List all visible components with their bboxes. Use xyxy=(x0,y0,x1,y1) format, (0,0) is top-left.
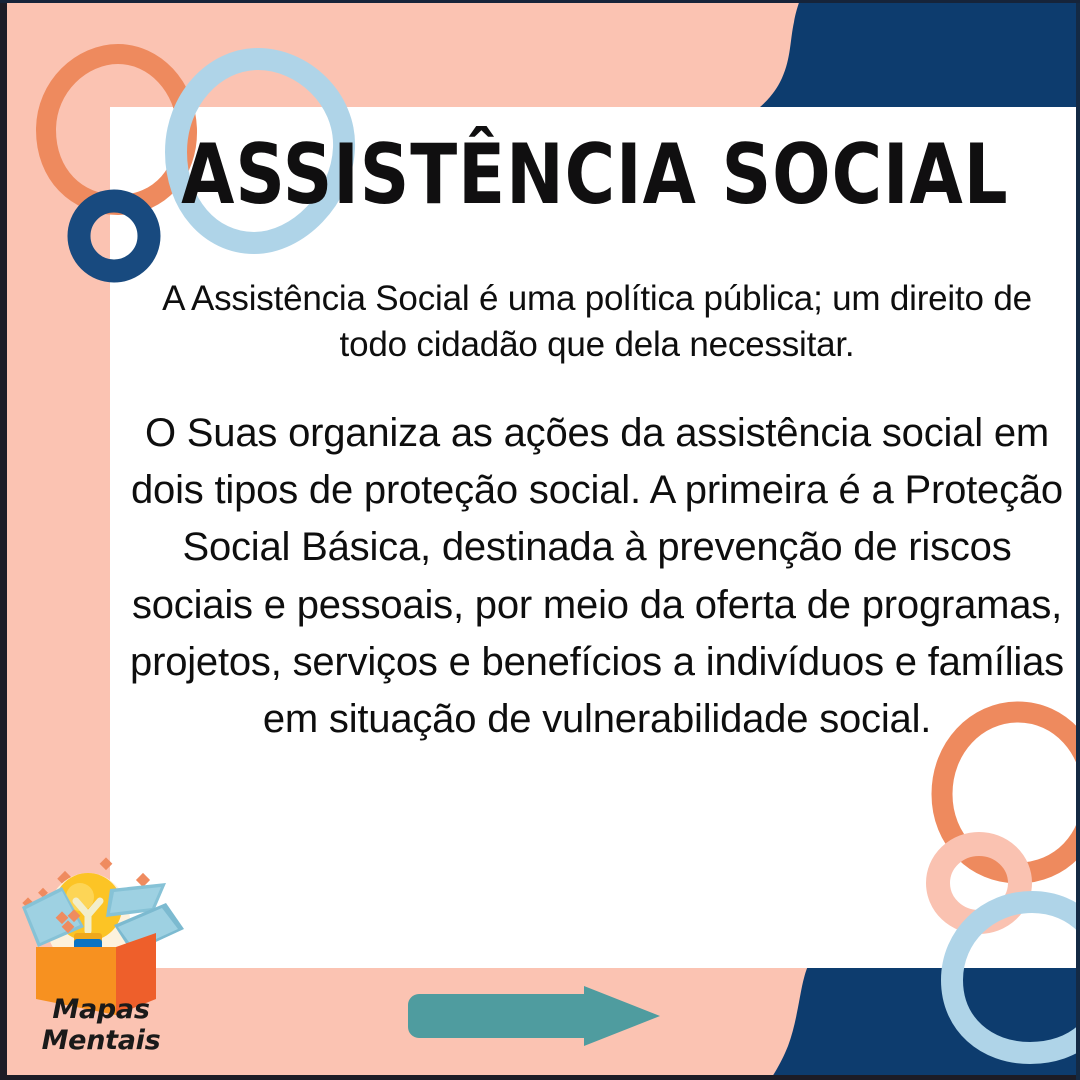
navy-block-top-right xyxy=(760,0,1080,107)
poster-canvas: ASSISTÊNCIA SOCIAL A Assistência Social … xyxy=(0,0,1080,1080)
frame-edge-top xyxy=(0,0,1080,3)
body-content: A Assistência Social é uma política públ… xyxy=(118,276,1076,748)
arrow-right-icon[interactable] xyxy=(398,984,666,1048)
frame-edge-left xyxy=(0,0,7,1080)
page-title: ASSISTÊNCIA SOCIAL xyxy=(110,140,1080,210)
navy-block-bottom-right xyxy=(770,966,1080,1080)
main-paragraph: O Suas organiza as ações da assistência … xyxy=(118,405,1076,748)
page-title-text: ASSISTÊNCIA SOCIAL xyxy=(181,136,1008,215)
brand-name: Mapas Mentais xyxy=(6,994,196,1056)
brand-logo: Mapas Mentais xyxy=(6,849,206,1074)
frame-edge-right xyxy=(1076,0,1080,1080)
frame-edge-bottom xyxy=(0,1075,1080,1080)
lead-paragraph: A Assistência Social é uma política públ… xyxy=(118,276,1076,367)
